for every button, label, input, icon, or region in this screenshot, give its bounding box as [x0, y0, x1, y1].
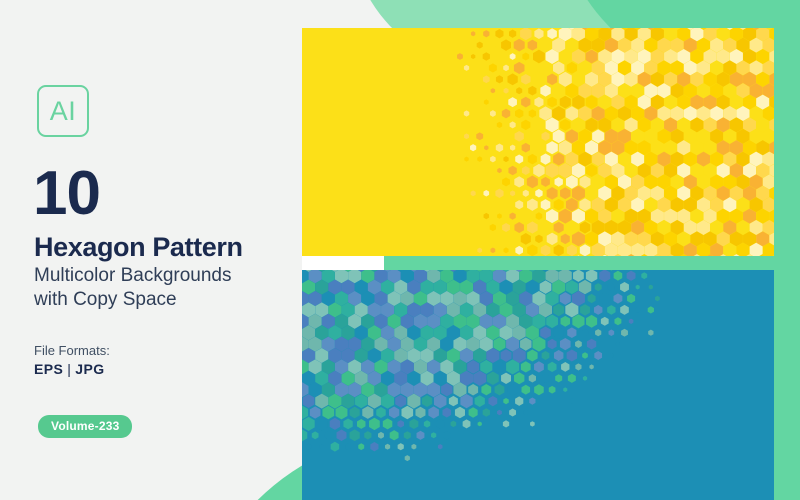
separator-green-strip — [384, 256, 774, 270]
ai-format-badge: AI — [37, 85, 89, 137]
format-separator: | — [63, 361, 75, 377]
poster-canvas: AI 10 Hexagon Pattern Multicolor Backgro… — [0, 0, 800, 500]
separator-white-strip — [302, 256, 384, 270]
subtitle-line-2: with Copy Space — [34, 290, 177, 309]
info-column: AI 10 Hexagon Pattern Multicolor Backgro… — [0, 0, 302, 500]
ai-badge-label: AI — [50, 98, 77, 125]
file-formats-values: EPS|JPG — [34, 362, 104, 376]
file-formats-label: File Formats: — [34, 344, 110, 357]
format-jpg: JPG — [75, 361, 104, 377]
item-count: 10 — [33, 163, 100, 225]
format-eps: EPS — [34, 361, 63, 377]
volume-badge: Volume-233 — [38, 415, 132, 438]
blue-hexagon-svg — [302, 270, 774, 500]
yellow-hexagon-panel — [302, 28, 774, 256]
subtitle-line-1: Multicolor Backgrounds — [34, 266, 231, 285]
page-title: Hexagon Pattern — [34, 234, 243, 261]
blue-hexagon-panel — [302, 270, 774, 500]
yellow-hexagon-svg — [302, 28, 774, 256]
